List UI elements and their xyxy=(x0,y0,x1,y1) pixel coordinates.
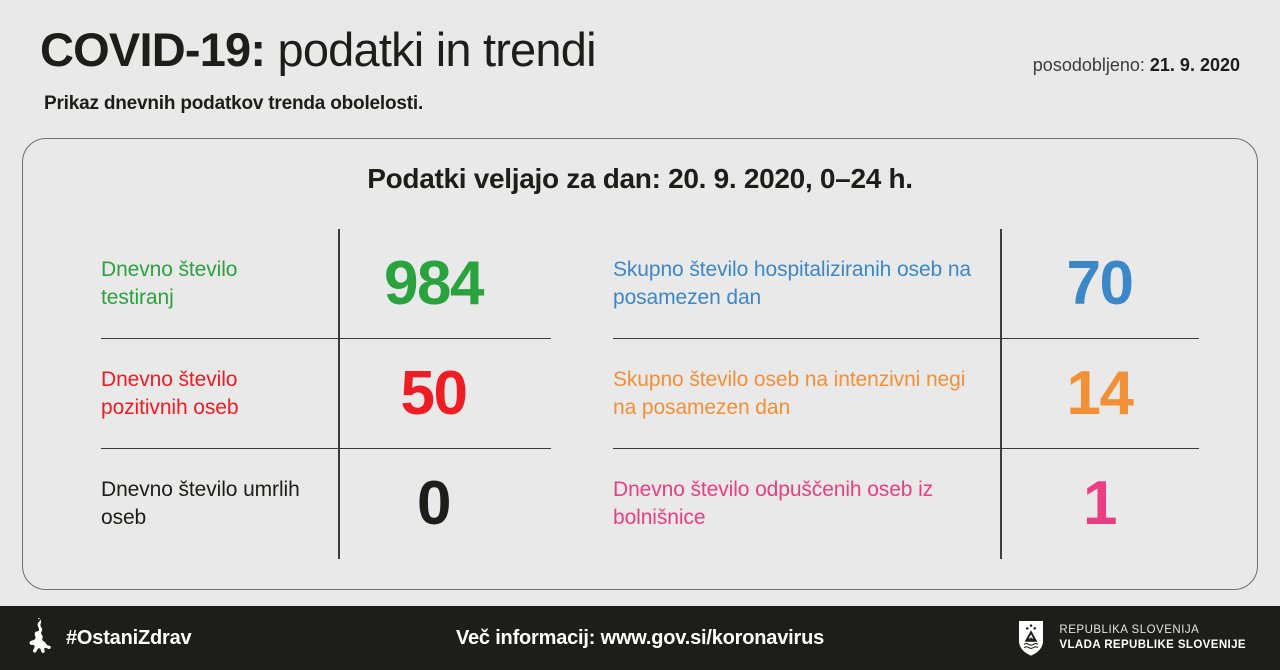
metric-label: Dnevno število umrlih oseb xyxy=(101,476,316,532)
metric-value: 50 xyxy=(316,363,551,425)
footer-hashtag-group: #OstaniZdrav xyxy=(26,606,191,670)
government-line-1: REPUBLIKA SLOVENIJA xyxy=(1059,623,1246,638)
metric-row-intensive-care: Skupno število oseb na intenzivni negi n… xyxy=(613,339,1199,449)
hashtag-label: #OstaniZdrav xyxy=(66,627,191,650)
last-updated-date: 21. 9. 2020 xyxy=(1150,55,1240,75)
government-text: REPUBLIKA SLOVENIJA VLADA REPUBLIKE SLOV… xyxy=(1059,623,1246,652)
metrics-grid: Dnevno število testiranj 984 Dnevno štev… xyxy=(23,229,1257,559)
page-title: COVID-19: podatki in trendi xyxy=(40,22,596,78)
metric-row-daily-positive: Dnevno število pozitivnih oseb 50 xyxy=(101,339,551,449)
metric-value: 70 xyxy=(1000,253,1199,315)
metric-label: Skupno število hospitaliziranih oseb na … xyxy=(613,256,1000,312)
page-title-strong: COVID-19: xyxy=(40,23,265,76)
metric-label: Dnevno število testiranj xyxy=(101,256,316,312)
more-info-link[interactable]: Več informacij: www.gov.si/koronavirus xyxy=(456,627,824,650)
slovenia-map-icon xyxy=(26,618,52,658)
metric-label: Dnevno število pozitivnih oseb xyxy=(101,366,316,422)
metric-label: Dnevno število odpuščenih oseb iz bolniš… xyxy=(613,476,1000,532)
page-footer: #OstaniZdrav Več informacij: www.gov.si/… xyxy=(0,606,1280,670)
last-updated-label: posodobljeno: xyxy=(1033,55,1150,75)
metric-value: 1 xyxy=(1000,473,1199,535)
metric-value: 0 xyxy=(316,473,551,535)
government-line-2: VLADA REPUBLIKE SLOVENIJE xyxy=(1059,638,1246,653)
page-title-rest: podatki in trendi xyxy=(265,23,595,76)
metrics-column-left: Dnevno število testiranj 984 Dnevno štev… xyxy=(101,229,551,559)
page-header: COVID-19: podatki in trendi Prikaz dnevn… xyxy=(0,0,1280,133)
metric-value: 14 xyxy=(1000,363,1199,425)
metric-row-hospitalized: Skupno število hospitaliziranih oseb na … xyxy=(613,229,1199,339)
data-card: Podatki veljajo za dan: 20. 9. 2020, 0–2… xyxy=(22,138,1258,590)
metric-value: 984 xyxy=(316,253,551,315)
metric-row-discharged: Dnevno število odpuščenih oseb iz bolniš… xyxy=(613,449,1199,559)
metric-row-daily-tests: Dnevno število testiranj 984 xyxy=(101,229,551,339)
card-title: Podatki veljajo za dan: 20. 9. 2020, 0–2… xyxy=(23,163,1257,195)
metrics-column-right: Skupno število hospitaliziranih oseb na … xyxy=(613,229,1199,559)
metric-label: Skupno število oseb na intenzivni negi n… xyxy=(613,366,1000,422)
metric-row-daily-deaths: Dnevno število umrlih oseb 0 xyxy=(101,449,551,559)
slovenia-coat-of-arms-icon xyxy=(1016,619,1046,657)
last-updated: posodobljeno: 21. 9. 2020 xyxy=(1033,55,1240,76)
footer-government-group: REPUBLIKA SLOVENIJA VLADA REPUBLIKE SLOV… xyxy=(1016,606,1246,670)
page-subtitle: Prikaz dnevnih podatkov trenda obolelost… xyxy=(44,93,423,115)
